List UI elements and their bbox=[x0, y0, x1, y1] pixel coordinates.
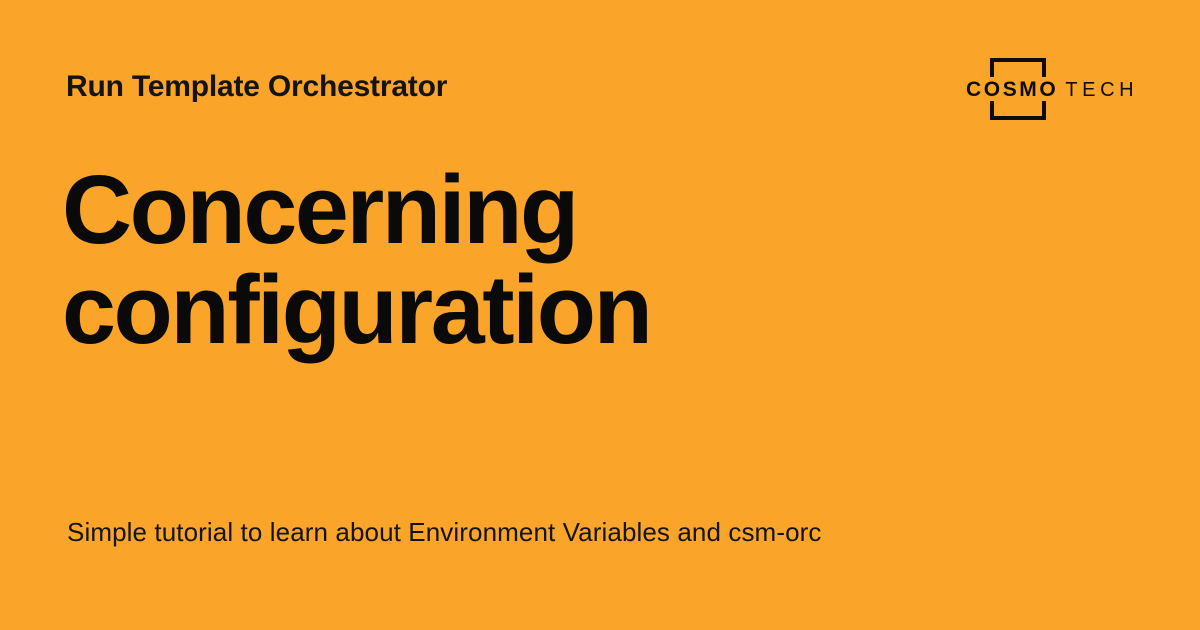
headline-line-2: configuration bbox=[62, 260, 1082, 360]
banner-header: Run Template Orchestrator COSMO TECH bbox=[0, 0, 1200, 160]
logo-word-tech: TECH bbox=[1065, 78, 1138, 102]
logo-frame-left-upper-edge bbox=[990, 58, 994, 77]
logo-wordmark: COSMO TECH bbox=[966, 78, 1138, 102]
headline-line-1: Concerning bbox=[62, 160, 1082, 260]
logo-frame-bottom-edge bbox=[990, 116, 1046, 120]
logo-frame-left-lower-edge bbox=[990, 101, 994, 120]
headline: Concerning configuration bbox=[62, 160, 1082, 360]
cosmo-tech-logo: COSMO TECH bbox=[966, 50, 1134, 130]
logo-word-cosmo: COSMO bbox=[966, 78, 1058, 102]
logo-frame-top-edge bbox=[990, 58, 1046, 62]
social-card-banner: Run Template Orchestrator COSMO TECH Con… bbox=[0, 0, 1200, 630]
logo-frame-right-lower-edge bbox=[1042, 101, 1046, 120]
page-title: Run Template Orchestrator bbox=[66, 70, 447, 104]
logo-frame-right-upper-edge bbox=[1042, 58, 1046, 77]
subtitle: Simple tutorial to learn about Environme… bbox=[67, 515, 1127, 549]
